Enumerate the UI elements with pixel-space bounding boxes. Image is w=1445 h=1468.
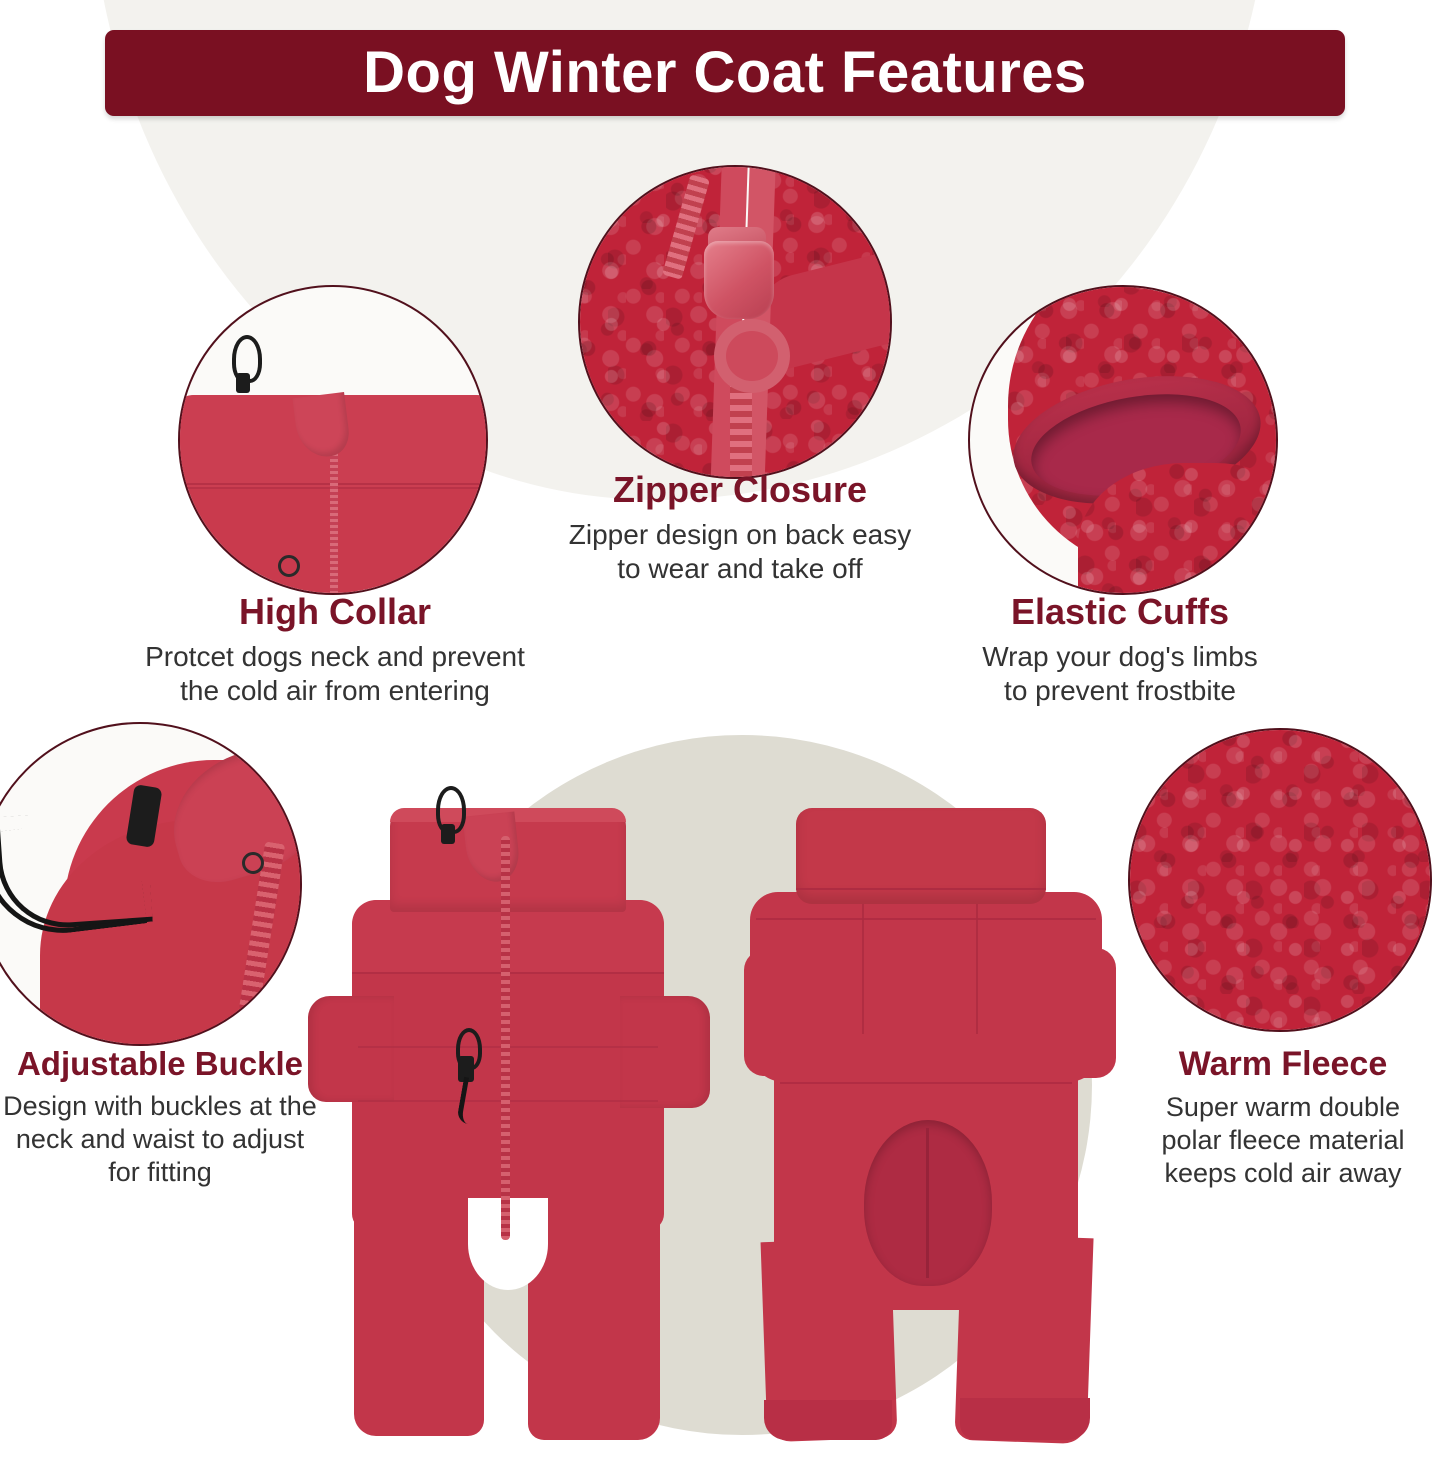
front-leg-left <box>354 1200 484 1436</box>
back-collar-seam <box>796 888 1046 890</box>
feature-image-elastic-cuffs <box>968 285 1278 595</box>
feature-caption-adjustable-buckle: Adjustable Buckle Design with buckles at… <box>0 1046 320 1189</box>
back-cuff-left <box>764 1400 892 1440</box>
feature-title-elastic-cuffs: Elastic Cuffs <box>950 592 1290 632</box>
feature-image-warm-fleece <box>1128 728 1432 1032</box>
feature-description-high-collar: Protcet dogs neck and prevent the cold a… <box>110 640 560 708</box>
back-cuff-right <box>960 1398 1090 1440</box>
feature-title-adjustable-buckle: Adjustable Buckle <box>0 1046 320 1082</box>
feature-image-adjustable-buckle <box>0 722 302 1046</box>
infographic-canvas: Dog Winter Coat Features <box>0 0 1445 1468</box>
zipper-pull-ring-icon <box>714 319 790 393</box>
front-sleeve-right <box>620 996 710 1108</box>
feature-caption-warm-fleece: Warm Fleece Super warm double polar flee… <box>1128 1046 1438 1190</box>
back-lower-seam <box>780 1082 1072 1084</box>
back-panel-seam-right <box>976 904 978 1034</box>
front-neck-cord-lock <box>441 824 455 844</box>
front-sleeve-left <box>308 996 394 1102</box>
feature-description-adjustable-buckle: Design with buckles at the neck and wais… <box>0 1090 320 1189</box>
adjustable-buckle-photo <box>0 724 300 1044</box>
fleece-pile-texture <box>1130 730 1430 1030</box>
feature-caption-elastic-cuffs: Elastic Cuffs Wrap your dog's limbs to p… <box>950 592 1290 708</box>
front-center-zipper <box>501 836 510 1240</box>
back-panel-seam-left <box>862 904 864 1034</box>
high-collar-photo <box>180 287 486 593</box>
grommet-ring-icon <box>278 555 300 577</box>
feature-title-zipper-closure: Zipper Closure <box>510 470 970 510</box>
feature-image-zipper-closure <box>578 165 892 479</box>
feature-description-zipper-closure: Zipper design on back easy to wear and t… <box>510 518 970 586</box>
cord-lock-toggle <box>236 373 250 393</box>
product-back-view <box>736 800 1116 1460</box>
back-belly-split-seam <box>926 1128 929 1278</box>
feature-description-warm-fleece: Super warm double polar fleece material … <box>1128 1091 1438 1190</box>
feature-caption-high-collar: High Collar Protcet dogs neck and preven… <box>110 592 560 708</box>
feature-title-high-collar: High Collar <box>110 592 560 632</box>
feature-image-high-collar <box>178 285 488 595</box>
elastic-cord-lower <box>0 815 147 942</box>
feature-description-elastic-cuffs: Wrap your dog's limbs to prevent frostbi… <box>950 640 1290 708</box>
page-title: Dog Winter Coat Features <box>363 44 1087 102</box>
zipper-slider-body <box>704 241 774 319</box>
buckle-grommet-ring-icon <box>242 852 264 874</box>
product-front-view <box>308 800 708 1460</box>
feature-caption-zipper-closure: Zipper Closure Zipper design on back eas… <box>510 470 970 586</box>
back-panel-top-seam <box>756 918 1096 920</box>
zipper-photo <box>580 167 890 477</box>
title-banner: Dog Winter Coat Features <box>105 30 1345 116</box>
feature-title-warm-fleece: Warm Fleece <box>1128 1046 1438 1083</box>
elastic-cuff-photo <box>970 287 1276 593</box>
